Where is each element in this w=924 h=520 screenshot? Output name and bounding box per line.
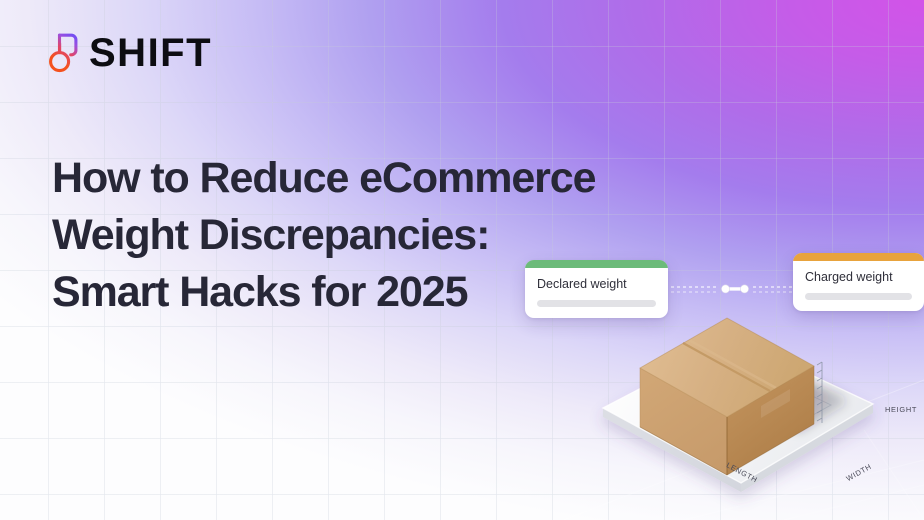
declared-card-accent-bar — [525, 260, 668, 268]
dumbbell-weight-icon — [721, 285, 748, 293]
weight-connector — [665, 281, 805, 299]
shift-logo-mark-icon — [47, 32, 80, 74]
charged-weight-card[interactable]: Charged weight — [793, 253, 924, 311]
brand-logo[interactable]: SHIFT — [47, 32, 212, 74]
charged-card-accent-bar — [793, 253, 924, 261]
dimension-label-height: HEIGHT — [885, 405, 917, 414]
isometric-scene — [585, 300, 885, 515]
declared-card-title: Declared weight — [525, 268, 668, 291]
headline-line-1: How to Reduce eCommerce — [52, 150, 732, 207]
brand-wordmark: SHIFT — [89, 33, 212, 73]
charged-card-title: Charged weight — [793, 261, 924, 284]
declared-card-value-placeholder — [537, 300, 656, 307]
declared-weight-card[interactable]: Declared weight — [525, 260, 668, 318]
charged-card-value-placeholder — [805, 293, 912, 300]
weight-illustration: HEIGHT LENGTH WIDTH Declared weight — [505, 245, 924, 520]
scale-stage: HEIGHT LENGTH WIDTH — [585, 300, 885, 515]
hero-banner: SHIFT How to Reduce eCommerce Weight Dis… — [0, 0, 924, 520]
